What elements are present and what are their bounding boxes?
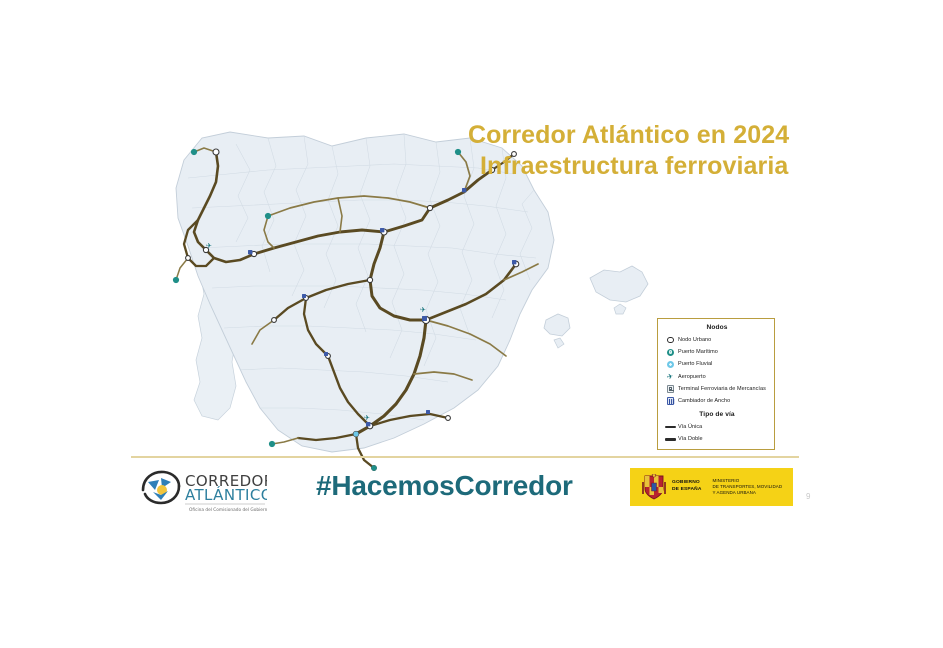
slide-canvas: ✈ ✈ ✈ Corredor Atlántico en 2024 Infraes… (0, 0, 943, 648)
ministerio-line-3: Y AGENDA URBANA (713, 490, 756, 495)
gauge-changer-icon (663, 397, 678, 405)
legend-label-nodo-urbano: Nodo Urbano (678, 337, 711, 343)
legend-item-cambiador-ancho: Cambiador de Ancho (663, 395, 771, 407)
svg-text:✈: ✈ (206, 242, 212, 250)
spain-coat-of-arms-icon (642, 474, 666, 501)
gobierno-line-2: DE ESPAÑA (672, 487, 702, 492)
legend-label-cambiador-ancho: Cambiador de Ancho (678, 398, 730, 404)
legend-label-via-unica: Vía Única (678, 424, 702, 430)
legend-item-via-unica: Vía Única (663, 421, 771, 433)
footer-divider (131, 456, 799, 458)
logo-emblem (143, 472, 179, 503)
single-track-line-icon (663, 426, 678, 428)
logo-word-bottom: ATLÁNTICO (185, 485, 267, 504)
slide-title: Corredor Atlántico en 2024 Infraestructu… (468, 120, 828, 181)
legend-label-puerto-maritimo: Puerto Marítimo (678, 349, 718, 355)
svg-text:✈: ✈ (364, 414, 370, 422)
map-legend: Nodos Nodo Urbano Puerto Marítimo Puerto… (657, 318, 775, 450)
gobierno-de-espana-text: GOBIERNO DE ESPAÑA (672, 480, 702, 493)
ministerio-line-1: MINISTERIO (713, 478, 740, 483)
ministerio-text: MINISTERIO DE TRANSPORTES, MOVILIDAD Y A… (713, 478, 783, 496)
legend-item-via-doble: Vía Doble (663, 433, 771, 445)
ministerio-line-2: DE TRANSPORTES, MOVILIDAD (713, 484, 783, 489)
legend-item-aeropuerto: ✈ Aeropuerto (663, 371, 771, 383)
legend-item-nodo-urbano: Nodo Urbano (663, 334, 771, 346)
freight-terminal-icon (663, 385, 678, 393)
airplane-icon: ✈ (663, 373, 678, 381)
riverport-icon (663, 361, 678, 368)
title-line-2: Infraestructura ferroviaria (468, 151, 828, 182)
legend-heading-nodes: Nodos (663, 324, 771, 331)
legend-label-terminal-ferroviaria: Terminal Ferroviaria de Mercancías (678, 386, 766, 392)
legend-item-puerto-fluvial: Puerto Fluvial (663, 358, 771, 370)
legend-label-aeropuerto: Aeropuerto (678, 374, 706, 380)
legend-label-puerto-fluvial: Puerto Fluvial (678, 361, 712, 367)
logo-tagline: Oficina del Comisionado del Gobierno (189, 507, 267, 513)
legend-item-terminal-ferroviaria: Terminal Ferroviaria de Mercancías (663, 383, 771, 395)
legend-label-via-doble: Vía Doble (678, 436, 703, 442)
title-line-1: Corredor Atlántico en 2024 (468, 120, 828, 151)
balearic-islands (544, 266, 648, 348)
seaport-icon (663, 349, 678, 356)
double-track-line-icon (663, 438, 678, 441)
legend-heading-tipo-via: Tipo de vía (663, 411, 771, 418)
legend-item-puerto-maritimo: Puerto Marítimo (663, 346, 771, 358)
page-number: 9 (806, 492, 810, 501)
circle-outline-icon (663, 337, 678, 343)
corredor-atlantico-logo: CORREDOR ATLÁNTICO Oficina del Comisiona… (137, 466, 267, 514)
logo-graphic: CORREDOR ATLÁNTICO Oficina del Comisiona… (137, 466, 267, 514)
government-banner: GOBIERNO DE ESPAÑA MINISTERIO DE TRANSPO… (630, 468, 793, 506)
gobierno-line-1: GOBIERNO (672, 480, 700, 485)
hashtag-text: #HacemosCorredor (316, 470, 573, 502)
svg-text:✈: ✈ (420, 306, 426, 314)
